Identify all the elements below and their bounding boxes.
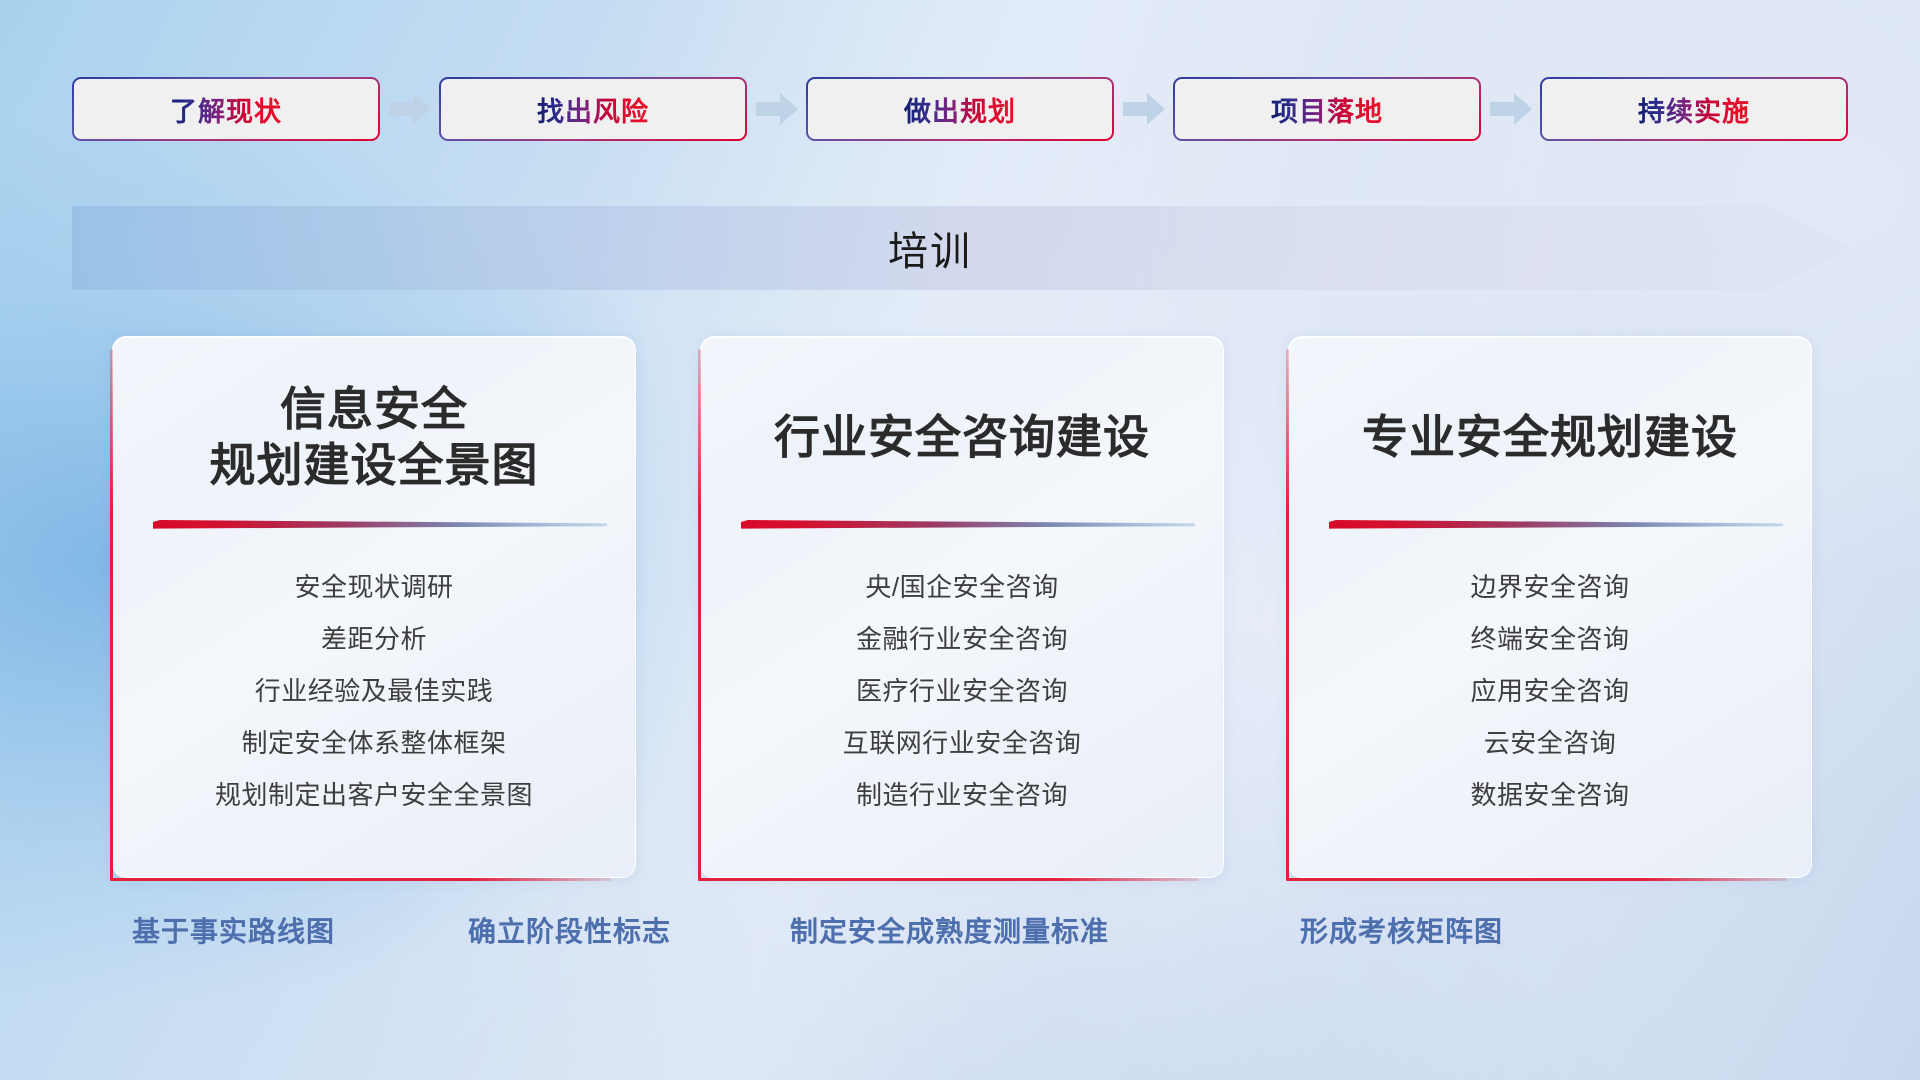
capability-card-3-list: 边界安全咨询 终端安全咨询 应用安全咨询 云安全咨询 数据安全咨询 [1317,561,1783,821]
list-item: 央/国企安全咨询 [729,561,1195,613]
step-arrow-4 [1481,77,1540,141]
step-label-1: 了解现状 [170,90,282,129]
list-item: 制定安全体系整体框架 [141,717,607,769]
list-item: 差距分析 [141,613,607,665]
step-label-5: 持续实施 [1638,90,1750,129]
capability-card-2-divider [741,519,1195,531]
training-banner: 培训 [72,206,1848,290]
capability-card-3-divider [1329,519,1783,531]
list-item: 边界安全咨询 [1317,561,1783,613]
list-item: 终端安全咨询 [1317,613,1783,665]
step-box-2[interactable]: 找出风险 [439,77,747,141]
step-arrow-3 [1114,77,1173,141]
list-item: 数据安全咨询 [1317,769,1783,821]
capability-card-row: 信息安全 规划建设全景图 [112,336,1812,878]
footnote-3: 制定安全成熟度测量标准 [790,910,1109,950]
capability-card-3[interactable]: 专业安全规划建设 [1288,336,1812,878]
capability-card-1-list: 安全现状调研 差距分析 行业经验及最佳实践 制定安全体系整体框架 规划制定出客户… [141,561,607,821]
list-item: 安全现状调研 [141,561,607,613]
capability-card-1[interactable]: 信息安全 规划建设全景图 [112,336,636,878]
step-label-2: 找出风险 [537,90,649,129]
tapered-divider-icon [741,519,1195,531]
step-label-4: 项目落地 [1271,90,1383,129]
capability-card-2-underline [698,878,1199,881]
step-arrow-2 [747,77,806,141]
footnote-4: 形成考核矩阵图 [1300,910,1503,950]
list-item: 规划制定出客户安全全景图 [141,769,607,821]
tapered-divider-icon [1329,519,1783,531]
list-item: 行业经验及最佳实践 [141,665,607,717]
step-box-5[interactable]: 持续实施 [1540,77,1848,141]
step-box-3[interactable]: 做出规划 [806,77,1114,141]
capability-card-2-list: 央/国企安全咨询 金融行业安全咨询 医疗行业安全咨询 互联网行业安全咨询 制造行… [729,561,1195,821]
capability-card-1-divider [153,519,607,531]
capability-card-1-title: 信息安全 规划建设全景图 [141,377,607,497]
right-arrow-icon [1123,93,1165,125]
list-item: 互联网行业安全咨询 [729,717,1195,769]
right-arrow-icon [756,93,798,125]
step-label-3: 做出规划 [904,90,1016,129]
footnote-1: 基于事实路线图 [132,910,335,950]
list-item: 医疗行业安全咨询 [729,665,1195,717]
right-arrow-icon [1490,93,1532,125]
slide-canvas: 了解现状 找出风险 做出规划 项目落地 [0,0,1920,1080]
list-item: 应用安全咨询 [1317,665,1783,717]
footnote-row: 基于事实路线图 确立阶段性标志 制定安全成熟度测量标准 形成考核矩阵图 [0,910,1920,960]
process-step-row: 了解现状 找出风险 做出规划 项目落地 [72,76,1848,142]
footnote-2: 确立阶段性标志 [468,910,671,950]
training-banner-title: 培训 [72,206,1848,290]
capability-card-2[interactable]: 行业安全咨询建设 [700,336,1224,878]
step-arrow-1 [380,77,439,141]
capability-card-2-title: 行业安全咨询建设 [729,377,1195,497]
tapered-divider-icon [153,519,607,531]
list-item: 制造行业安全咨询 [729,769,1195,821]
right-arrow-icon [389,93,431,125]
list-item: 云安全咨询 [1317,717,1783,769]
capability-card-3-underline [1286,878,1787,881]
capability-card-3-title: 专业安全规划建设 [1317,377,1783,497]
step-box-1[interactable]: 了解现状 [72,77,380,141]
list-item: 金融行业安全咨询 [729,613,1195,665]
capability-card-1-underline [110,878,611,881]
step-box-4[interactable]: 项目落地 [1173,77,1481,141]
